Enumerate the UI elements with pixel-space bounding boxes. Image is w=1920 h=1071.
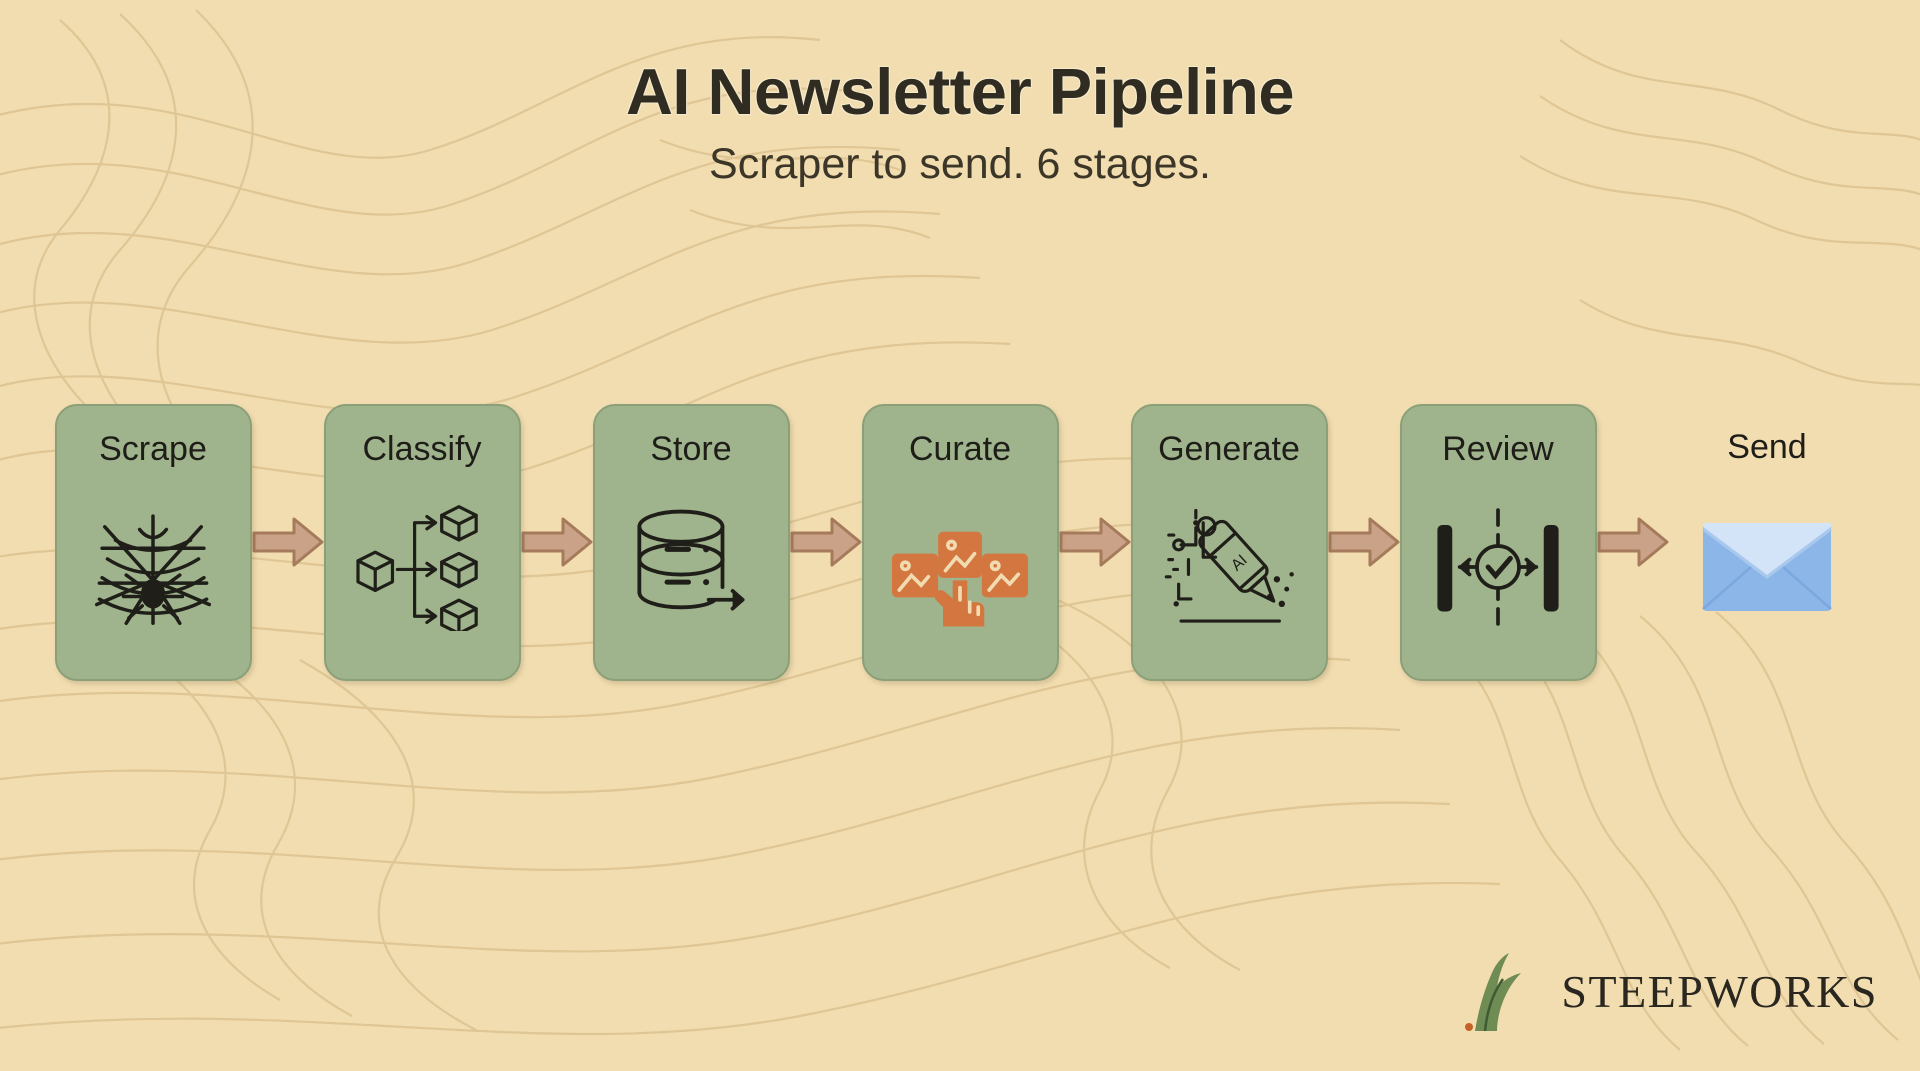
boxes-branching-icon [326,466,519,679]
database-cylinder-icon [595,466,788,679]
image-select-hand-icon [864,466,1057,679]
stage-label: Curate [909,432,1011,466]
brand-name: STEEPWORKS [1561,969,1878,1015]
page-title: AI Newsletter Pipeline [0,56,1920,128]
right-arrow-icon [1056,505,1134,579]
ai-pen-circuit-icon: AI [1133,466,1326,679]
brand-logo: STEEPWORKS [1455,949,1878,1035]
svg-text:AI: AI [1228,552,1251,575]
stage-label: Generate [1158,432,1300,466]
stage-label: Review [1442,432,1553,466]
right-arrow-icon [1594,505,1672,579]
stage-label: Send [1727,430,1806,464]
pipeline-stage-generate[interactable]: Generate AI [1131,404,1328,681]
right-arrow-icon [518,505,596,579]
stage-label: Classify [362,432,481,466]
stage-label: Store [650,432,731,466]
mountain-peak-logo-icon [1455,949,1547,1035]
checkmark-gate-icon [1402,466,1595,679]
right-arrow-icon [787,505,865,579]
spider-web-icon [57,466,250,679]
pipeline-stage-send[interactable]: Send [1669,404,1866,681]
page-subtitle: Scraper to send. 6 stages. [0,140,1920,189]
envelope-icon [1669,464,1866,681]
pipeline-stage-classify[interactable]: Classify [324,404,521,681]
pipeline-stage-curate[interactable]: Curate [862,404,1059,681]
pipeline-stage-scrape[interactable]: Scrape [55,404,252,681]
pipeline-stage-store[interactable]: Store [593,404,790,681]
stage-label: Scrape [99,432,207,466]
pipeline-flow: Scrape [0,402,1920,682]
right-arrow-icon [1325,505,1403,579]
header: AI Newsletter Pipeline Scraper to send. … [0,56,1920,189]
right-arrow-icon [249,505,327,579]
pipeline-stage-review[interactable]: Review [1400,404,1597,681]
